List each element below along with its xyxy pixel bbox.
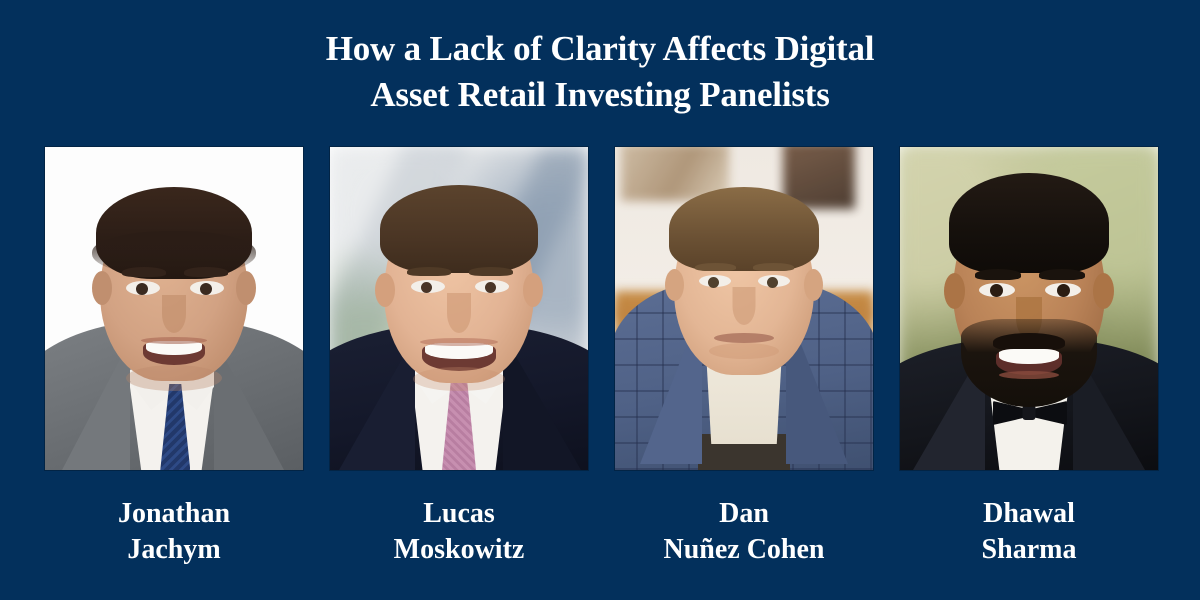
panelist-name-4: Dhawal Sharma xyxy=(982,496,1077,568)
panelist-card-1: Jonathan Jachym xyxy=(45,147,303,568)
panelist-card-4: Dhawal Sharma xyxy=(900,147,1158,568)
panelist-photo-1 xyxy=(45,147,303,470)
panelist-card-2: Lucas Moskowitz xyxy=(330,147,588,568)
panelist-name-4-line-2: Sharma xyxy=(982,532,1077,568)
panelist-photo-4 xyxy=(900,147,1158,470)
panelist-photo-3 xyxy=(615,147,873,470)
panelist-photo-2 xyxy=(330,147,588,470)
panelist-name-3: Dan Nuñez Cohen xyxy=(663,496,824,568)
panelist-name-1-line-2: Jachym xyxy=(118,532,230,568)
panelist-name-2: Lucas Moskowitz xyxy=(394,496,525,568)
panelist-name-1-line-1: Jonathan xyxy=(118,496,230,532)
panelist-grid: Jonathan Jachym xyxy=(45,147,1158,577)
page-title-line-2: Asset Retail Investing Panelists xyxy=(0,72,1200,118)
panelist-name-2-line-2: Moskowitz xyxy=(394,532,525,568)
page-title: How a Lack of Clarity Affects Digital As… xyxy=(0,26,1200,118)
page-title-line-1: How a Lack of Clarity Affects Digital xyxy=(0,26,1200,72)
panelist-card-3: Dan Nuñez Cohen xyxy=(615,147,873,568)
panelist-name-2-line-1: Lucas xyxy=(394,496,525,532)
panelist-name-1: Jonathan Jachym xyxy=(118,496,230,568)
panelist-name-3-line-2: Nuñez Cohen xyxy=(663,532,824,568)
panelist-name-3-line-1: Dan xyxy=(663,496,824,532)
panelist-name-4-line-1: Dhawal xyxy=(982,496,1077,532)
panelists-poster: How a Lack of Clarity Affects Digital As… xyxy=(0,0,1200,600)
